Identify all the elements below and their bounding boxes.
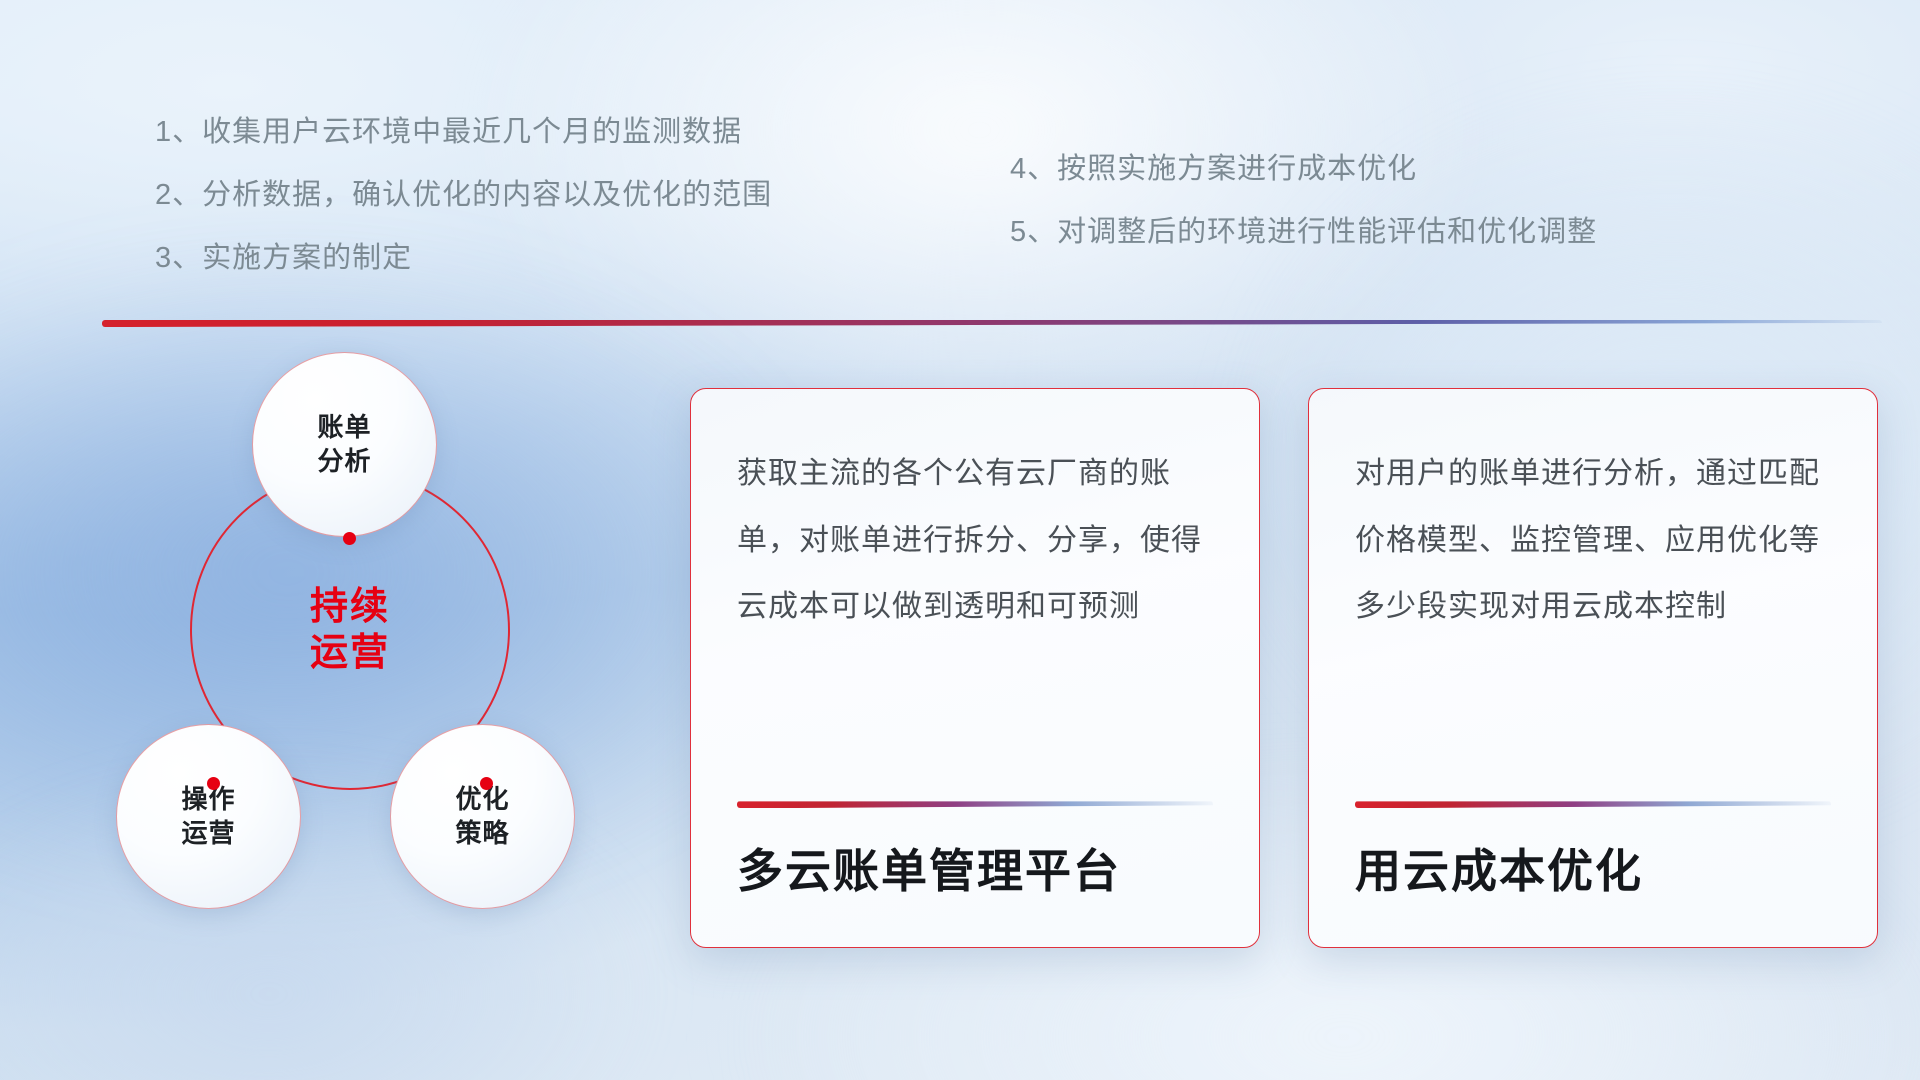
card-cloud-cost-optimization[interactable]: 对用户的账单进行分析，通过匹配价格模型、监控管理、应用优化等多少段实现对用云成本… [1308, 388, 1878, 948]
venn-node-optimization-label: 优化策略 [455, 783, 509, 850]
card-1-title: 多云账单管理平台 [737, 846, 1213, 907]
card-2-body: 对用户的账单进行分析，通过匹配价格模型、监控管理、应用优化等多少段实现对用云成本… [1355, 441, 1831, 801]
step-item-5: 5、对调整后的环境进行性能评估和优化调整 [1010, 218, 1597, 247]
venn-connector-dot-right [480, 777, 493, 790]
step-item-2: 2、分析数据，确认优化的内容以及优化的范围 [155, 181, 772, 210]
card-multi-cloud-billing-platform[interactable]: 获取主流的各个公有云厂商的账单，对账单进行拆分、分享，使得云成本可以做到透明和可… [690, 388, 1260, 948]
card-1-body: 获取主流的各个公有云厂商的账单，对账单进行拆分、分享，使得云成本可以做到透明和可… [737, 441, 1213, 801]
card-2-divider [1355, 801, 1831, 808]
venn-node-optimization[interactable]: 优化策略 [390, 724, 575, 909]
venn-connector-dot-top [343, 532, 356, 545]
venn-connector-dot-left [207, 777, 220, 790]
step-item-3: 3、实施方案的制定 [155, 244, 772, 273]
steps-column-left: 1、收集用户云环境中最近几个月的监测数据 2、分析数据，确认优化的内容以及优化的… [155, 118, 772, 307]
venn-node-operations[interactable]: 操作运营 [116, 724, 301, 909]
venn-node-billing-analysis-label: 账单分析 [317, 411, 371, 478]
card-1-divider [737, 801, 1213, 808]
venn-node-operations-label: 操作运营 [181, 783, 235, 850]
card-2-title: 用云成本优化 [1355, 846, 1831, 907]
continuous-operation-venn-diagram: 账单分析 操作运营 优化策略 持续运营 [104, 352, 664, 952]
step-item-4: 4、按照实施方案进行成本优化 [1010, 155, 1597, 184]
step-item-1: 1、收集用户云环境中最近几个月的监测数据 [155, 118, 772, 147]
steps-column-right: 4、按照实施方案进行成本优化 5、对调整后的环境进行性能评估和优化调整 [1010, 155, 1597, 281]
venn-node-billing-analysis[interactable]: 账单分析 [252, 352, 437, 537]
